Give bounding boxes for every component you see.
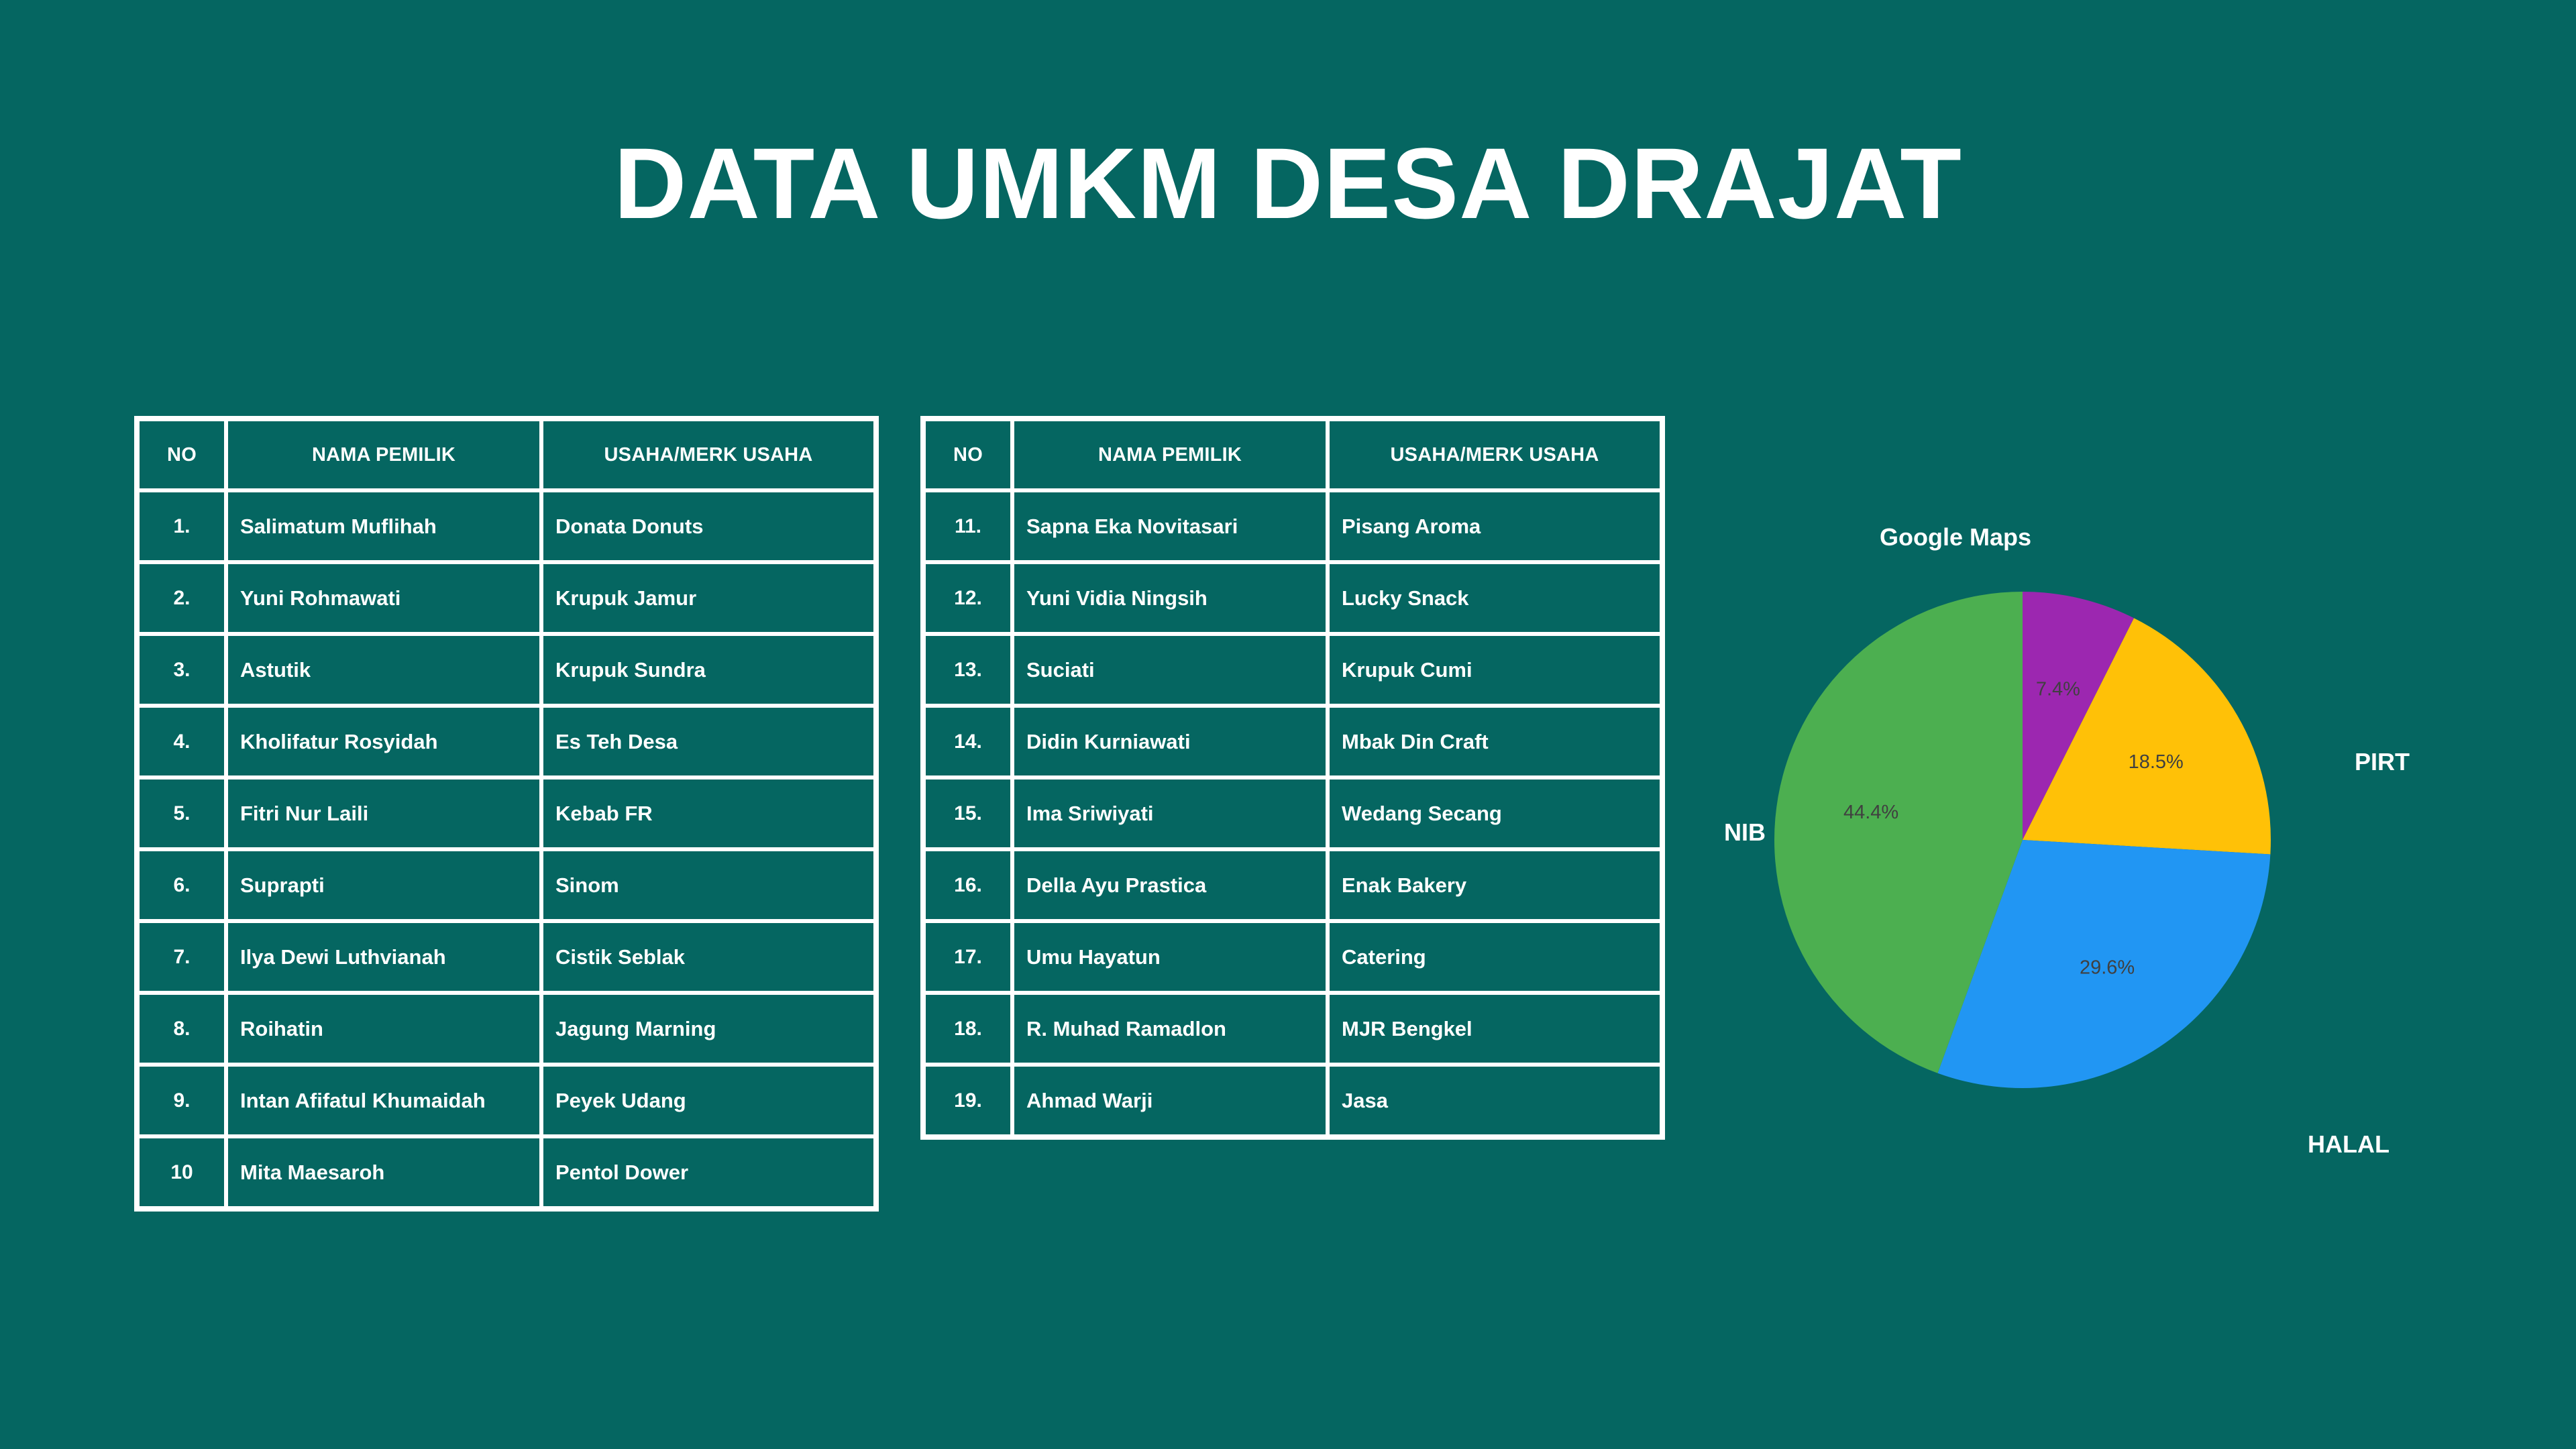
pie-label-pirt: PIRT (2355, 748, 2410, 776)
table-row: 9. Intan Afifatul Khumaidah Peyek Udang (138, 1065, 875, 1136)
cell-usaha: Wedang Secang (1328, 777, 1662, 849)
pie-chart-svg: 7.4%18.5%29.6%44.4% (1704, 496, 2449, 1181)
cell-usaha: Peyek Udang (541, 1065, 875, 1136)
column-header-no: NO (924, 419, 1012, 490)
pie-label-halal: HALAL (2308, 1130, 2390, 1159)
cell-nama: Mita Maesaroh (226, 1136, 541, 1208)
page-title: DATA UMKM DESA DRAJAT (0, 131, 2576, 237)
cell-no: 1. (138, 490, 226, 562)
cell-no: 9. (138, 1065, 226, 1136)
cell-no: 7. (138, 921, 226, 993)
cell-no: 17. (924, 921, 1012, 993)
cell-nama: Fitri Nur Laili (226, 777, 541, 849)
table-row: 19. Ahmad Warji Jasa (924, 1065, 1662, 1136)
pie-slices-group (1774, 592, 2271, 1088)
cell-nama: Suprapti (226, 849, 541, 921)
column-header-nama: NAMA PEMILIK (226, 419, 541, 490)
cell-nama: Ahmad Warji (1012, 1065, 1328, 1136)
table-body: 11. Sapna Eka Novitasari Pisang Aroma 12… (924, 490, 1662, 1136)
cell-nama: Salimatum Muflihah (226, 490, 541, 562)
cell-usaha: Kebab FR (541, 777, 875, 849)
cell-no: 15. (924, 777, 1012, 849)
cell-nama: Intan Afifatul Khumaidah (226, 1065, 541, 1136)
pie-pct-google-maps: 7.4% (2036, 678, 2080, 700)
table-row: 17. Umu Hayatun Catering (924, 921, 1662, 993)
cell-usaha: Catering (1328, 921, 1662, 993)
cell-usaha: Sinom (541, 849, 875, 921)
table-row: 10 Mita Maesaroh Pentol Dower (138, 1136, 875, 1208)
cell-no: 8. (138, 993, 226, 1065)
cell-no: 5. (138, 777, 226, 849)
table-header-row: NO NAMA PEMILIK USAHA/MERK USAHA (138, 419, 875, 490)
table-row: 14. Didin Kurniawati Mbak Din Craft (924, 706, 1662, 777)
cell-nama: Roihatin (226, 993, 541, 1065)
table-row: 5. Fitri Nur Laili Kebab FR (138, 777, 875, 849)
cell-no: 4. (138, 706, 226, 777)
cell-usaha: Cistik Seblak (541, 921, 875, 993)
column-header-no: NO (138, 419, 226, 490)
cell-usaha: MJR Bengkel (1328, 993, 1662, 1065)
cell-usaha: Krupuk Jamur (541, 562, 875, 634)
certification-pie-chart: 7.4%18.5%29.6%44.4% Google Maps PIRT HAL… (1704, 496, 2449, 1181)
table-row: 16. Della Ayu Prastica Enak Bakery (924, 849, 1662, 921)
cell-usaha: Pentol Dower (541, 1136, 875, 1208)
cell-no: 14. (924, 706, 1012, 777)
cell-usaha: Enak Bakery (1328, 849, 1662, 921)
cell-no: 13. (924, 634, 1012, 706)
cell-nama: Yuni Vidia Ningsih (1012, 562, 1328, 634)
cell-nama: Yuni Rohmawati (226, 562, 541, 634)
cell-usaha: Mbak Din Craft (1328, 706, 1662, 777)
pie-pct-nib: 44.4% (1843, 802, 1898, 823)
umkm-table-right: NO NAMA PEMILIK USAHA/MERK USAHA 11. Sap… (920, 416, 1665, 1140)
cell-no: 12. (924, 562, 1012, 634)
pie-label-nib: NIB (1724, 818, 1766, 847)
cell-no: 3. (138, 634, 226, 706)
cell-nama: Della Ayu Prastica (1012, 849, 1328, 921)
cell-nama: Umu Hayatun (1012, 921, 1328, 993)
cell-usaha: Pisang Aroma (1328, 490, 1662, 562)
cell-usaha: Es Teh Desa (541, 706, 875, 777)
cell-no: 10 (138, 1136, 226, 1208)
table-row: 18. R. Muhad Ramadlon MJR Bengkel (924, 993, 1662, 1065)
pie-label-google-maps: Google Maps (1880, 523, 2031, 551)
table-head: NO NAMA PEMILIK USAHA/MERK USAHA (924, 419, 1662, 490)
table-row: 8. Roihatin Jagung Marning (138, 993, 875, 1065)
table-head: NO NAMA PEMILIK USAHA/MERK USAHA (138, 419, 875, 490)
cell-nama: Astutik (226, 634, 541, 706)
cell-nama: Suciati (1012, 634, 1328, 706)
table-row: 3. Astutik Krupuk Sundra (138, 634, 875, 706)
cell-usaha: Donata Donuts (541, 490, 875, 562)
cell-nama: Ima Sriwiyati (1012, 777, 1328, 849)
cell-usaha: Krupuk Cumi (1328, 634, 1662, 706)
cell-no: 16. (924, 849, 1012, 921)
cell-nama: Kholifatur Rosyidah (226, 706, 541, 777)
cell-usaha: Krupuk Sundra (541, 634, 875, 706)
table-row: 12. Yuni Vidia Ningsih Lucky Snack (924, 562, 1662, 634)
umkm-table-left: NO NAMA PEMILIK USAHA/MERK USAHA 1. Sali… (134, 416, 879, 1212)
table-row: 11. Sapna Eka Novitasari Pisang Aroma (924, 490, 1662, 562)
cell-nama: R. Muhad Ramadlon (1012, 993, 1328, 1065)
table-row: 4. Kholifatur Rosyidah Es Teh Desa (138, 706, 875, 777)
pie-pct-halal: 29.6% (2080, 957, 2135, 978)
cell-no: 2. (138, 562, 226, 634)
cell-no: 11. (924, 490, 1012, 562)
cell-usaha: Jasa (1328, 1065, 1662, 1136)
cell-usaha: Lucky Snack (1328, 562, 1662, 634)
cell-nama: Didin Kurniawati (1012, 706, 1328, 777)
cell-nama: Ilya Dewi Luthvianah (226, 921, 541, 993)
cell-usaha: Jagung Marning (541, 993, 875, 1065)
table-row: 2. Yuni Rohmawati Krupuk Jamur (138, 562, 875, 634)
table-row: 7. Ilya Dewi Luthvianah Cistik Seblak (138, 921, 875, 993)
cell-no: 19. (924, 1065, 1012, 1136)
table-body: 1. Salimatum Muflihah Donata Donuts 2. Y… (138, 490, 875, 1208)
cell-no: 18. (924, 993, 1012, 1065)
column-header-usaha: USAHA/MERK USAHA (541, 419, 875, 490)
table-row: 6. Suprapti Sinom (138, 849, 875, 921)
pie-pct-pirt: 18.5% (2129, 751, 2184, 773)
cell-no: 6. (138, 849, 226, 921)
table-header-row: NO NAMA PEMILIK USAHA/MERK USAHA (924, 419, 1662, 490)
table-row: 15. Ima Sriwiyati Wedang Secang (924, 777, 1662, 849)
column-header-nama: NAMA PEMILIK (1012, 419, 1328, 490)
column-header-usaha: USAHA/MERK USAHA (1328, 419, 1662, 490)
table-row: 1. Salimatum Muflihah Donata Donuts (138, 490, 875, 562)
cell-nama: Sapna Eka Novitasari (1012, 490, 1328, 562)
table-row: 13. Suciati Krupuk Cumi (924, 634, 1662, 706)
